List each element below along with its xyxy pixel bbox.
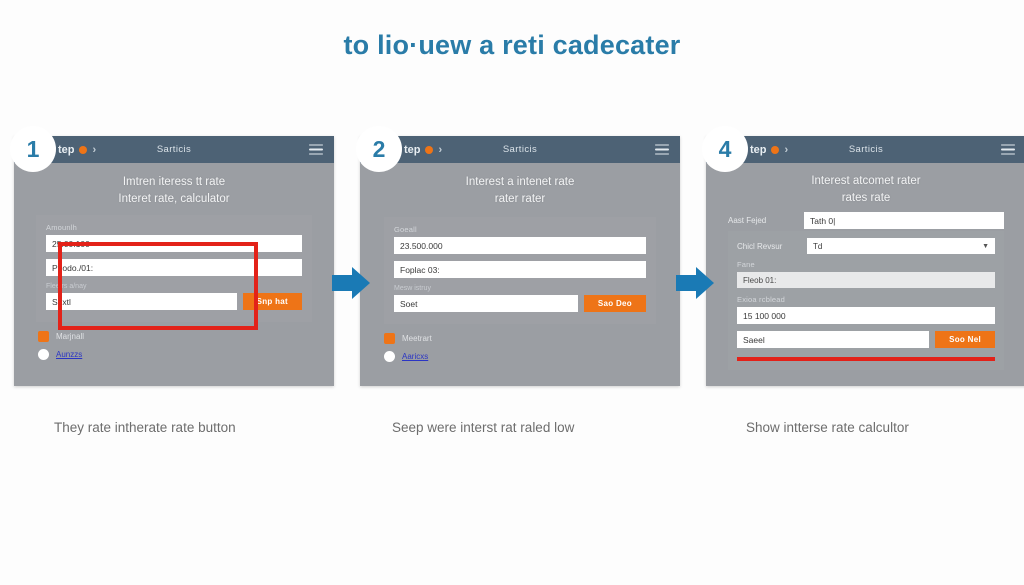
panel-heading-1: Imtren iteress tt rate Interet rate, cal… xyxy=(14,163,334,207)
arrow-right-icon-2 xyxy=(676,266,716,300)
select-value: Td xyxy=(813,242,822,251)
brand-logo[interactable]: tep › xyxy=(404,144,442,156)
checkbox-checked-icon[interactable] xyxy=(384,333,395,344)
step-badge-1: 1 xyxy=(10,126,56,172)
brand-label: tep xyxy=(58,144,75,156)
chevron-right-icon: › xyxy=(93,144,97,156)
chevron-right-icon: › xyxy=(439,144,443,156)
step-badge-3: 4 xyxy=(702,126,748,172)
arrow-right-icon-1 xyxy=(332,266,372,300)
brand-logo[interactable]: tep › xyxy=(58,144,96,156)
step-panel-2: 2 tep › Sarticis Interest a intenet rate… xyxy=(360,136,680,386)
calculator-form-2: Goeall 23.500.000 Foplac 03: Mesw istruy… xyxy=(384,217,656,324)
helper-label: Fleetrs a/nay xyxy=(46,283,302,290)
amount-label: Goeall xyxy=(394,225,646,234)
page-title: to lio·uew a reti cadecater xyxy=(0,30,1024,61)
step-panel-3: 4 tep › Sarticis Interest atcomet rater … xyxy=(706,136,1024,386)
panel-heading-2: Interest a intenet rate rater rater xyxy=(360,163,680,207)
field2-label: Exioa rcblead xyxy=(737,295,995,304)
submit-button[interactable]: Sao Deo xyxy=(584,295,646,312)
search-row: Sextl Snp hat xyxy=(46,293,302,310)
period-input[interactable]: Foplac 03: xyxy=(394,261,646,278)
option-row-radio[interactable]: Aaricxs xyxy=(384,351,680,362)
submit-button[interactable]: Soo Nel xyxy=(935,331,995,348)
heading-line-1: Imtren iteress tt rate xyxy=(48,174,300,191)
search-row: Soet Sao Deo xyxy=(394,295,646,312)
steps-row: 1 tep › Sarticis Imtren iteress tt rate … xyxy=(0,118,1024,378)
option-row-checkbox[interactable]: Marjnall xyxy=(38,331,334,342)
select-label: Chicl Revsur xyxy=(737,242,799,251)
field1-input[interactable]: Fleob 01: xyxy=(737,272,995,288)
radio-button-icon[interactable] xyxy=(384,351,395,362)
submit-button[interactable]: Snp hat xyxy=(243,293,302,310)
step-panel-1: 1 tep › Sarticis Imtren iteress tt rate … xyxy=(14,136,334,386)
radio-button-icon[interactable] xyxy=(38,349,49,360)
select-row: Chicl Revsur Td ▼ xyxy=(737,238,995,254)
orange-dot-icon xyxy=(425,146,433,154)
heading-line-2: rater rater xyxy=(394,191,646,208)
calculator-form-1: Amounlh 25.00.100 Poodo./01: Fleetrs a/n… xyxy=(36,215,312,322)
heading-line-2: rates rate xyxy=(740,190,992,207)
checkbox-checked-icon[interactable] xyxy=(38,331,49,342)
caption-step-3: Show intterse rate calcultor xyxy=(746,420,909,435)
panel-topbar-1: tep › Sarticis xyxy=(14,136,334,163)
hamburger-icon[interactable] xyxy=(655,144,669,155)
outer-field-row: Aast Fejed Tath 0| xyxy=(706,212,1024,229)
option-link[interactable]: Aaricxs xyxy=(402,352,428,361)
brand-logo[interactable]: tep › xyxy=(750,144,788,156)
search-input[interactable]: Soet xyxy=(394,295,578,312)
options-list-1: Marjnall Aunzzs xyxy=(38,331,334,360)
amount-input[interactable]: 25.00.100 xyxy=(46,235,302,252)
calculator-form-3: Chicl Revsur Td ▼ Fane Fleob 01: Exioa r… xyxy=(728,231,1004,370)
step-badge-2: 2 xyxy=(356,126,402,172)
captions-row: They rate intherate rate button Seep wer… xyxy=(0,420,1024,460)
chevron-right-icon: › xyxy=(785,144,789,156)
amount-input[interactable]: 23.500.000 xyxy=(394,237,646,254)
search-row: Saeel Soo Nel xyxy=(737,331,995,348)
orange-dot-icon xyxy=(771,146,779,154)
panel-topbar-3: tep › Sarticis xyxy=(706,136,1024,163)
panel-heading-3: Interest atcomet rater rates rate xyxy=(706,163,1024,206)
caption-step-2: Seep were interst rat raled low xyxy=(392,420,574,435)
outer-field-input[interactable]: Tath 0| xyxy=(804,212,1004,229)
option-row-radio[interactable]: Aunzzs xyxy=(38,349,334,360)
option-row-checkbox[interactable]: Meetrart xyxy=(384,333,680,344)
helper-label: Mesw istruy xyxy=(394,285,646,292)
caption-step-1: They rate intherate rate button xyxy=(54,420,236,435)
brand-label: tep xyxy=(750,144,767,156)
heading-line-2: Interet rate, calculator xyxy=(48,191,300,208)
options-list-2: Meetrart Aaricxs xyxy=(384,333,680,362)
period-input[interactable]: Poodo./01: xyxy=(46,259,302,276)
amount-label: Amounlh xyxy=(46,223,302,232)
orange-dot-icon xyxy=(79,146,87,154)
field1-label: Fane xyxy=(737,260,995,269)
search-input[interactable]: Saeel xyxy=(737,331,929,348)
hamburger-icon[interactable] xyxy=(309,144,323,155)
search-input[interactable]: Sextl xyxy=(46,293,237,310)
option-label: Meetrart xyxy=(402,334,432,343)
currency-select[interactable]: Td ▼ xyxy=(807,238,995,254)
panel-topbar-2: tep › Sarticis xyxy=(360,136,680,163)
red-highlight-underline xyxy=(737,357,995,361)
outer-field-label: Aast Fejed xyxy=(728,216,796,225)
brand-label: tep xyxy=(404,144,421,156)
heading-line-1: Interest atcomet rater xyxy=(740,173,992,190)
field2-input[interactable]: 15 100 000 xyxy=(737,307,995,324)
hamburger-icon[interactable] xyxy=(1001,144,1015,155)
chevron-down-icon: ▼ xyxy=(982,243,989,250)
option-label: Marjnall xyxy=(56,332,84,341)
heading-line-1: Interest a intenet rate xyxy=(394,174,646,191)
option-link[interactable]: Aunzzs xyxy=(56,350,82,359)
